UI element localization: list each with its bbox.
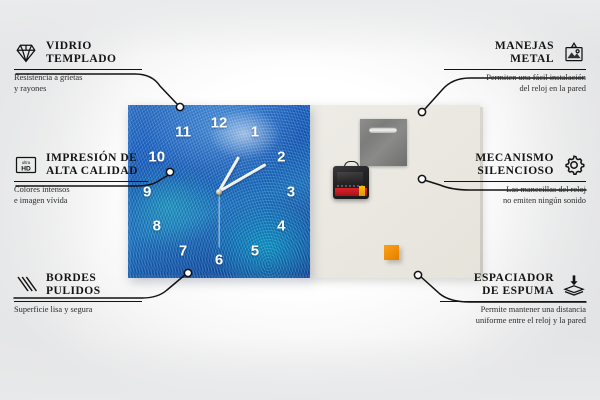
feature-title: MANEJAS METAL	[444, 40, 554, 66]
feature-title: BORDES PULIDOS	[46, 272, 101, 298]
feature-subtitle: Resistencia a grietas y rayones	[14, 73, 156, 94]
feature-title: VIDRIO TEMPLADO	[46, 40, 116, 66]
foam-spacer-icon	[562, 273, 586, 297]
clock-numeral: 1	[251, 125, 259, 140]
feature-subtitle: Permite mantener una distancia uniforme …	[440, 305, 586, 326]
polished-edges-icon	[14, 273, 38, 297]
clock-numeral: 3	[287, 184, 295, 199]
feature-manejas-metal: MANEJAS METAL Permiten una fácil instala…	[444, 40, 586, 94]
feature-divider	[14, 181, 148, 182]
product-image: 121234567891011	[128, 105, 480, 278]
feature-espaciador-espuma: ESPACIADOR DE ESPUMA Permite mantener un…	[440, 272, 586, 326]
feature-header: ESPACIADOR DE ESPUMA	[440, 272, 586, 298]
clock-numeral: 11	[175, 125, 191, 140]
gear-icon	[562, 153, 586, 177]
clock-numeral: 8	[153, 218, 161, 233]
feature-divider	[444, 69, 586, 70]
feature-header: BORDES PULIDOS	[14, 272, 156, 298]
feature-vidrio-templado: VIDRIO TEMPLADO Resistencia a grietas y …	[14, 40, 156, 94]
metal-hanger-plate	[360, 119, 407, 166]
infographic-canvas: 121234567891011	[0, 0, 600, 400]
hanger-keyhole-slot	[369, 127, 397, 133]
feature-title: MECANISMO SILENCIOSO	[444, 152, 554, 178]
picture-hanger-icon	[562, 41, 586, 65]
feature-header: MANEJAS METAL	[444, 40, 586, 66]
feature-divider	[440, 301, 586, 302]
clock-numeral: 6	[215, 252, 223, 267]
feature-mecanismo-silencioso: MECANISMO SILENCIOSO Las manecillas del …	[444, 152, 586, 206]
feature-header: ultra HD IMPRESIÓN DE ALTA CALIDAD	[14, 152, 164, 178]
quartz-movement-mechanism	[333, 161, 369, 199]
clock-numeral: 5	[251, 243, 259, 258]
feature-subtitle: Permiten una fácil instalación del reloj…	[444, 73, 586, 94]
ultra-hd-icon: ultra HD	[14, 153, 38, 177]
feature-subtitle: Colores intensos e imagen vívida	[14, 185, 164, 206]
feature-title: IMPRESIÓN DE ALTA CALIDAD	[46, 152, 138, 178]
feature-title: ESPACIADOR DE ESPUMA	[440, 272, 554, 298]
clock-center-cap	[216, 189, 222, 195]
svg-text:HD: HD	[21, 165, 31, 172]
clock-numeral: 7	[179, 243, 187, 258]
diamond-icon	[14, 41, 38, 65]
clock-numeral: 12	[211, 116, 228, 131]
mechanism-body	[333, 166, 369, 199]
second-hand	[218, 192, 219, 248]
clock-numeral: 4	[277, 218, 285, 233]
feature-divider	[444, 181, 586, 182]
feature-subtitle: Las manecillas del reloj no emiten ningú…	[444, 185, 586, 206]
feature-header: VIDRIO TEMPLADO	[14, 40, 156, 66]
feature-header: MECANISMO SILENCIOSO	[444, 152, 586, 178]
feature-subtitle: Superficie lisa y segura	[14, 305, 156, 316]
mechanism-red-label	[335, 188, 367, 196]
feature-divider	[14, 301, 142, 302]
clock-numeral: 2	[277, 150, 285, 165]
feature-divider	[14, 69, 142, 70]
feature-bordes-pulidos: BORDES PULIDOS Superficie lisa y segura	[14, 272, 156, 316]
feature-impresion-alta-calidad: ultra HD IMPRESIÓN DE ALTA CALIDAD Color…	[14, 152, 164, 206]
foam-spacer	[384, 245, 399, 260]
